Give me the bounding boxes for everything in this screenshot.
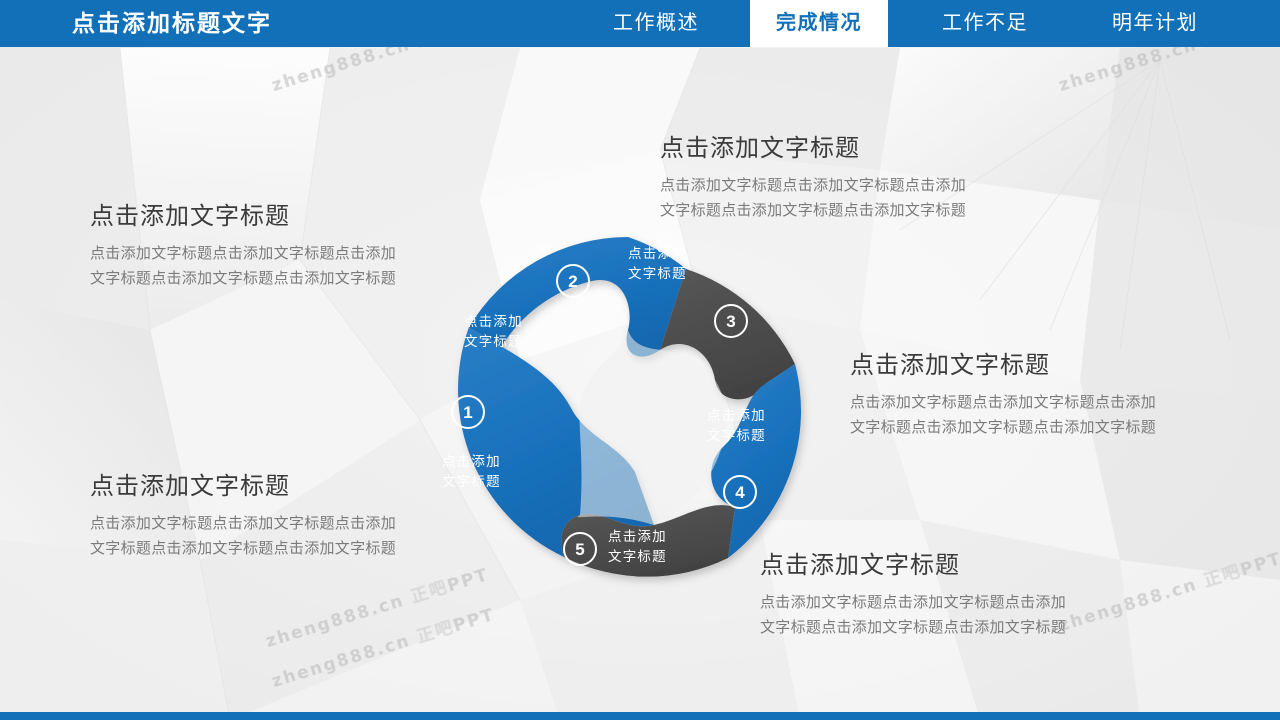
text-block-right-middle: 点击添加文字标题 点击添加文字标题点击添加文字标题点击添加 文字标题点击添加文字…	[850, 345, 1156, 440]
header-bar: 点击添加标题文字 工作概述 完成情况 工作不足 明年计划	[0, 0, 1280, 47]
text-block-title: 点击添加文字标题	[90, 466, 396, 501]
cycle-badge-5[interactable]: 5	[563, 532, 597, 566]
text-block-line: 点击添加文字标题点击添加文字标题点击添加	[660, 173, 966, 198]
tab-wanchengqingkuang[interactable]: 完成情况	[750, 0, 888, 47]
text-block-top-right: 点击添加文字标题 点击添加文字标题点击添加文字标题点击添加 文字标题点击添加文字…	[660, 128, 966, 223]
cycle-badge-2[interactable]: 2	[556, 264, 590, 298]
text-block-line: 文字标题点击添加文字标题点击添加文字标题	[90, 536, 396, 561]
text-block-left-lower: 点击添加文字标题 点击添加文字标题点击添加文字标题点击添加 文字标题点击添加文字…	[90, 466, 396, 561]
text-block-line: 文字标题点击添加文字标题点击添加文字标题	[660, 198, 966, 223]
text-block-line: 点击添加文字标题点击添加文字标题点击添加	[90, 511, 396, 536]
text-block-bottom-right: 点击添加文字标题 点击添加文字标题点击添加文字标题点击添加 文字标题点击添加文字…	[760, 545, 1066, 640]
tab-gongzuogaishu[interactable]: 工作概述	[592, 0, 720, 47]
text-block-title: 点击添加文字标题	[850, 345, 1156, 380]
text-block-line: 点击添加文字标题点击添加文字标题点击添加	[850, 390, 1156, 415]
page-title: 点击添加标题文字	[72, 0, 272, 47]
text-block-title: 点击添加文字标题	[660, 128, 966, 163]
text-block-line: 文字标题点击添加文字标题点击添加文字标题	[850, 415, 1156, 440]
text-block-line: 文字标题点击添加文字标题点击添加文字标题	[760, 615, 1066, 640]
text-block-title: 点击添加文字标题	[760, 545, 1066, 580]
cycle-badge-3[interactable]: 3	[714, 304, 748, 338]
slide-canvas: zheng888.cn 正吧PPT zheng888.cn 正吧PPT zhen…	[0, 0, 1280, 720]
cycle-badge-1[interactable]: 1	[451, 395, 485, 429]
text-block-line: 文字标题点击添加文字标题点击添加文字标题	[90, 266, 396, 291]
tab-mingnianjihua[interactable]: 明年计划	[1090, 0, 1220, 47]
tab-gongzuobuzu[interactable]: 工作不足	[920, 0, 1050, 47]
text-block-line: 点击添加文字标题点击添加文字标题点击添加	[90, 241, 396, 266]
text-block-title: 点击添加文字标题	[90, 196, 396, 231]
footer-accent-bar	[0, 712, 1280, 720]
text-block-left-upper: 点击添加文字标题 点击添加文字标题点击添加文字标题点击添加 文字标题点击添加文字…	[90, 196, 396, 291]
cycle-center	[578, 330, 726, 525]
text-block-line: 点击添加文字标题点击添加文字标题点击添加	[760, 590, 1066, 615]
cycle-badge-4[interactable]: 4	[723, 475, 757, 509]
